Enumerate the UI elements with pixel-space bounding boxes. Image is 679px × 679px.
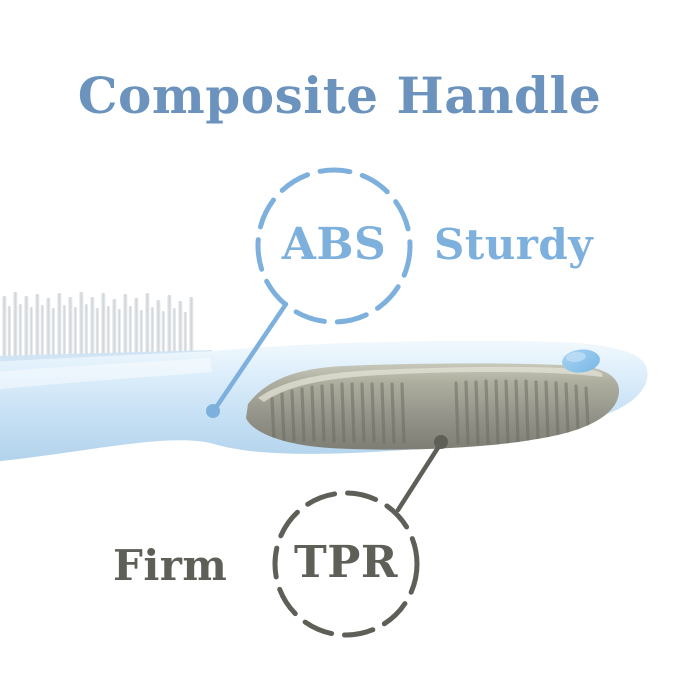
plastic-handle-body <box>0 341 648 462</box>
rubber-grip <box>246 363 619 449</box>
callout-abs: ABS <box>254 166 414 326</box>
tpr-material-label: TPR <box>271 541 421 585</box>
comb-head-spine <box>0 350 214 380</box>
sturdy-label: Sturdy <box>434 220 593 269</box>
firm-label: Firm <box>113 541 227 590</box>
handle-highlight <box>0 358 212 390</box>
callout-tpr: TPR <box>271 489 421 639</box>
abs-material-label: ABS <box>254 223 414 267</box>
page-title: Composite Handle <box>0 66 679 125</box>
product-infographic: Composite Handle ABS TPR Sturdy Firm <box>0 0 679 679</box>
metal-comb-teeth <box>2 292 194 368</box>
blue-accent-oval <box>561 348 601 375</box>
